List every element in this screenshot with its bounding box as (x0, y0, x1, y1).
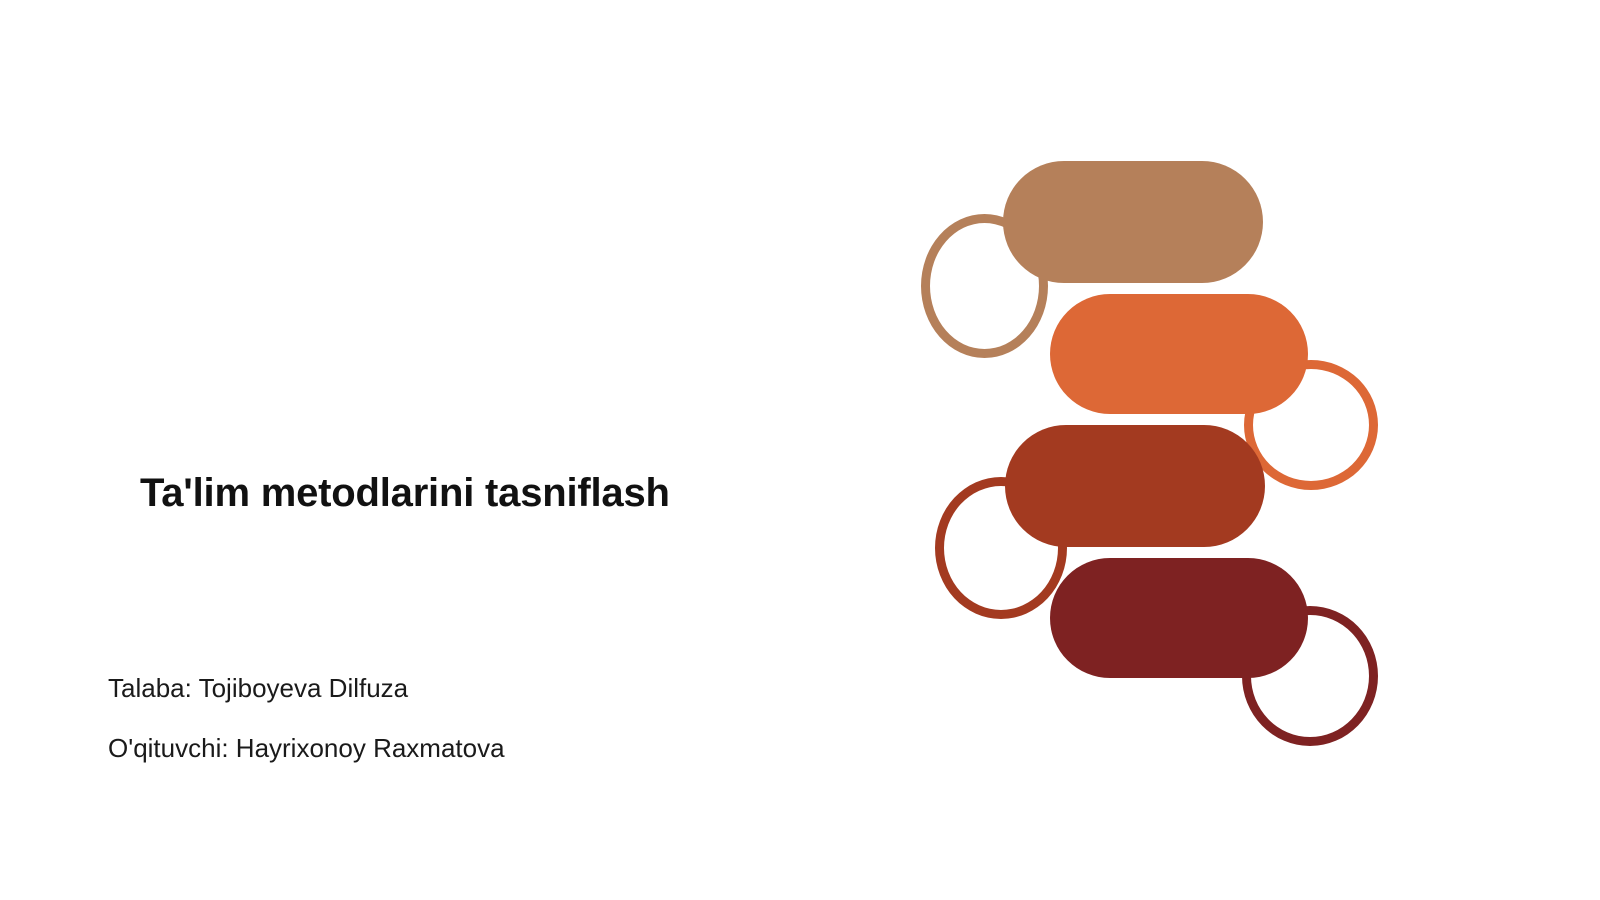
deco-pill-maroon (1050, 558, 1308, 678)
page-title: Ta'lim metodlarini tasniflash (140, 470, 840, 516)
credit-line-student: Talaba: Tojiboyeva Dilfuza (108, 672, 848, 705)
decorative-pill-ring-graphic (890, 140, 1410, 770)
presentation-slide: Ta'lim metodlarini tasniflash Talaba: To… (0, 0, 1600, 900)
credits-block: Talaba: Tojiboyeva Dilfuza O'qituvchi: H… (108, 672, 848, 764)
deco-unit-maroon (890, 140, 1410, 770)
credit-line-teacher: O'qituvchi: Hayrixonoy Raxmatova (108, 732, 848, 765)
title-text-block: Ta'lim metodlarini tasniflash Talaba: To… (0, 0, 880, 900)
